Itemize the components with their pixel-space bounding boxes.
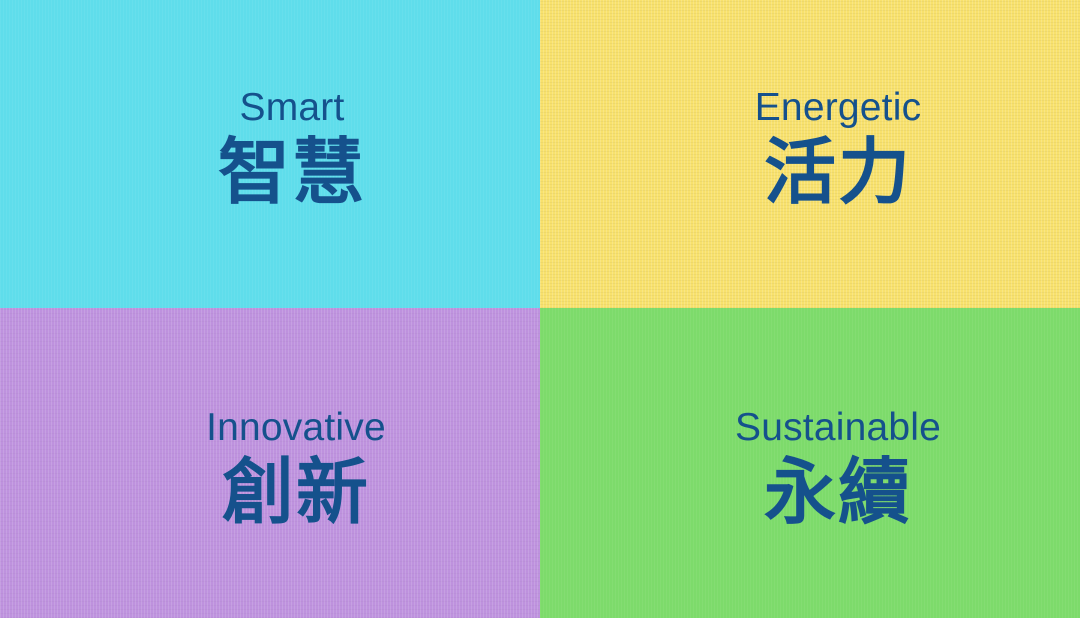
quadrant-energetic[interactable]: Energetic 活力: [540, 0, 1080, 308]
label-chinese-smart: 智慧: [22, 133, 540, 214]
label-chinese-sustainable: 永續: [568, 453, 1080, 534]
label-block-sustainable: Sustainable 永續: [568, 408, 1080, 534]
label-english-smart: Smart: [22, 88, 540, 129]
label-english-sustainable: Sustainable: [568, 408, 1080, 449]
label-chinese-energetic: 活力: [568, 133, 1080, 214]
quadrant-sustainable[interactable]: Sustainable 永續: [540, 308, 1080, 618]
brand-values-grid: Smart 智慧 Energetic 活力 Innovative 創新 Sust…: [0, 0, 1080, 618]
label-english-energetic: Energetic: [568, 88, 1080, 129]
label-english-innovative: Innovative: [26, 408, 540, 449]
quadrant-innovative[interactable]: Innovative 創新: [0, 308, 540, 618]
quadrant-smart[interactable]: Smart 智慧: [0, 0, 540, 308]
label-block-energetic: Energetic 活力: [568, 88, 1080, 214]
label-block-smart: Smart 智慧: [22, 88, 540, 214]
label-chinese-innovative: 創新: [26, 453, 540, 534]
label-block-innovative: Innovative 創新: [26, 408, 540, 534]
